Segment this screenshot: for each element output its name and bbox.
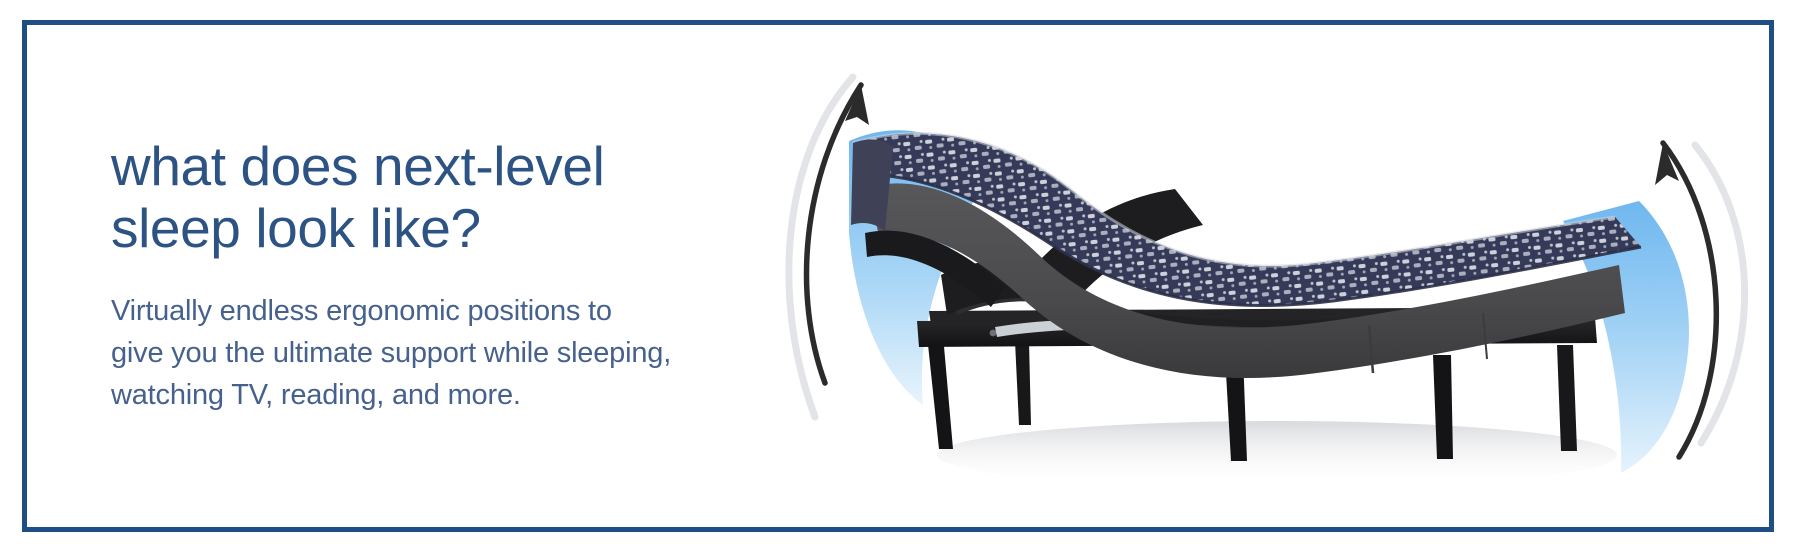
description-text: Virtually endless ergonomic positions to… bbox=[111, 290, 751, 416]
page-title: what does next-level sleep look like? bbox=[111, 136, 757, 259]
text-column: what does next-level sleep look like? Vi… bbox=[27, 25, 757, 527]
promo-banner: what does next-level sleep look like? Vi… bbox=[22, 20, 1774, 532]
banner-content: what does next-level sleep look like? Vi… bbox=[27, 25, 1769, 527]
illustration-column bbox=[757, 25, 1769, 527]
adjustable-bed-illustration bbox=[757, 25, 1769, 527]
floor-shadow bbox=[937, 421, 1617, 489]
